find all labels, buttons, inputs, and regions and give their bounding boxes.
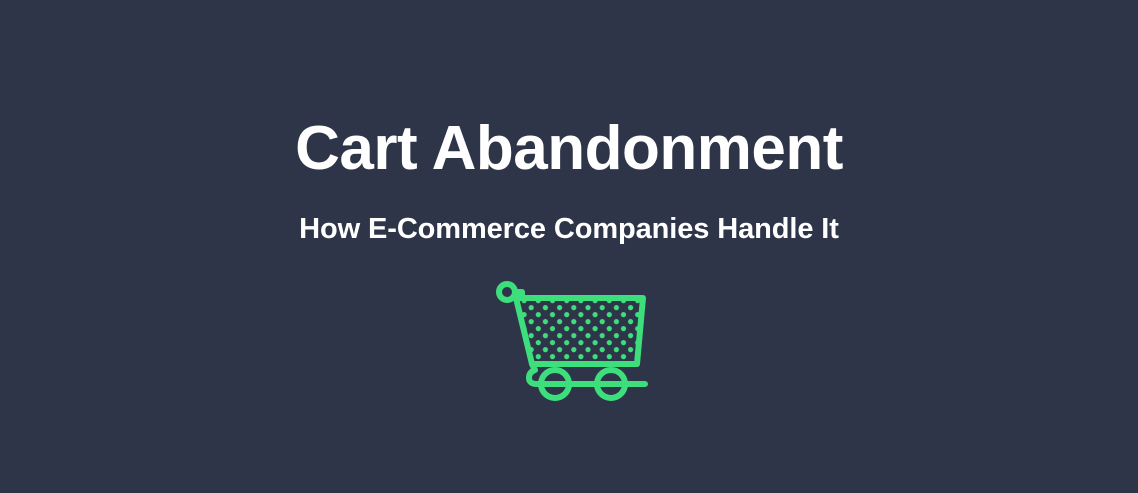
page-title: Cart Abandonment bbox=[0, 113, 1138, 185]
hero-banner: Cart Abandonment How E-Commerce Companie… bbox=[0, 0, 1138, 493]
shopping-cart-icon bbox=[485, 276, 655, 401]
shopping-cart-graphic bbox=[485, 276, 655, 401]
page-subtitle: How E-Commerce Companies Handle It bbox=[0, 210, 1138, 248]
